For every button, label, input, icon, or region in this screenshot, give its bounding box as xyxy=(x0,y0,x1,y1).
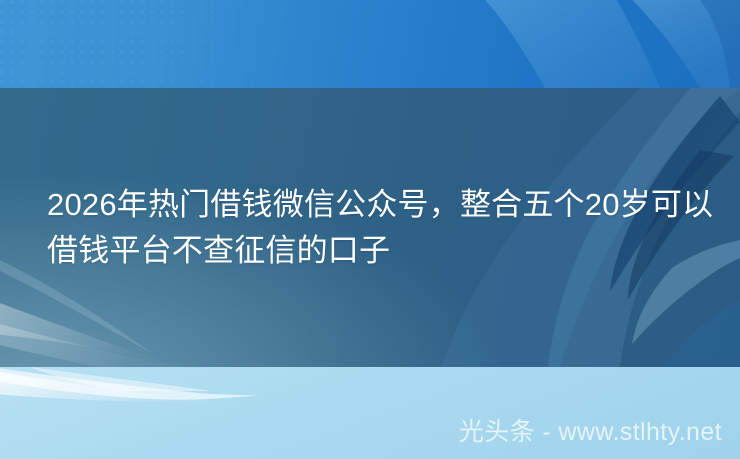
site-watermark: 光头条 - www.stlhty.net xyxy=(459,417,722,447)
promo-banner: 2026年热门借钱微信公众号，整合五个20岁可以借钱平台不查征信的口子 光头条 … xyxy=(0,0,740,459)
top-color-band xyxy=(0,0,740,88)
dot-grid-texture xyxy=(0,0,330,88)
banner-title: 2026年热门借钱微信公众号，整合五个20岁可以借钱平台不查征信的口子 xyxy=(47,182,727,274)
